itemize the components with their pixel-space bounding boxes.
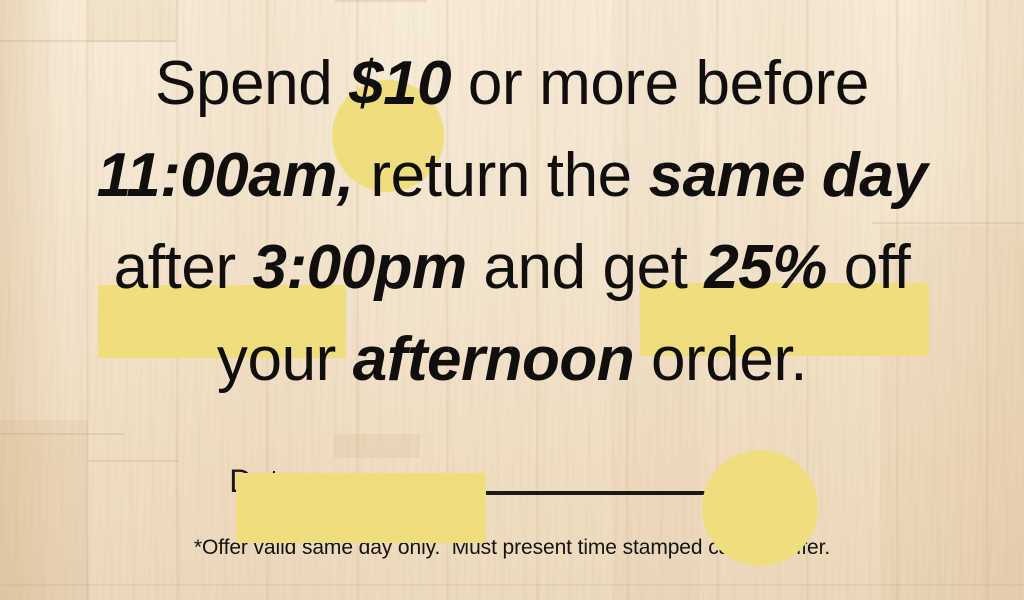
line4-text-pre: your [217,325,353,394]
line1-highlight-amount: $10 [349,49,451,118]
line2-text-mid: return the [354,141,649,210]
line4-text-post: order. [634,325,807,394]
date-field-row: Date: [0,463,1024,500]
line3-highlight-discount: 25% [704,233,827,302]
headline-line-1: Spend $10 or more before [0,38,1024,130]
headline-line-2: 11:00am, return the same day [0,130,1024,222]
line2-highlight-same-day: same day [649,141,928,210]
plank-seam-horizontal-3 [88,460,178,462]
headline-line-3: after 3:00pm and get 25% off [0,222,1024,314]
plank-seam-horizontal-2 [0,433,124,435]
plank-seam-horizontal-4 [335,0,427,2]
highlight-circle-twenty-five-percent [702,450,818,566]
line3-text-pre: after [114,233,253,302]
line2-highlight-time: 11:00am, [97,141,354,210]
line3-text-post: off [827,233,910,302]
line1-text-post: or more before [451,49,869,118]
highlight-rect-three-pm [236,473,486,543]
promo-card: Spend $10 or more before 11:00am, return… [0,0,1024,600]
line4-highlight-afternoon: afternoon [353,325,634,394]
headline-block: Spend $10 or more before 11:00am, return… [0,38,1024,406]
disclaimer-text: *Offer valid same day only. Must present… [0,536,1024,560]
line1-text-pre: Spend [155,49,349,118]
line3-highlight-time: 3:00pm [253,233,467,302]
line3-text-mid: and get [467,233,705,302]
plank-seam-horizontal-6 [0,584,1024,586]
